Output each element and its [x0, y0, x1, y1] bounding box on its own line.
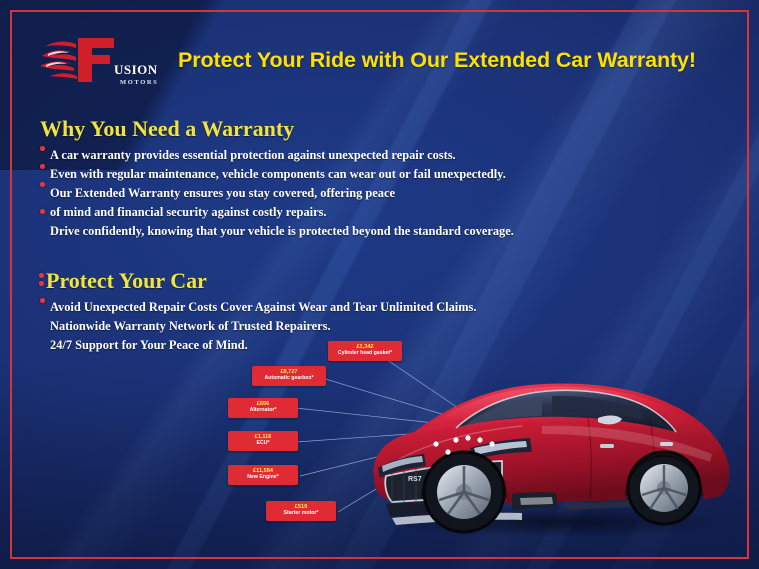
flaming-f-icon: USION MOTORS — [40, 30, 160, 92]
section-heading: Why You Need a Warranty — [40, 116, 660, 142]
callout-ecu[interactable]: £1,116 ECU* — [228, 431, 298, 451]
body-line: of mind and financial security against c… — [40, 203, 660, 222]
body-line: Even with regular maintenance, vehicle c… — [40, 165, 660, 184]
header: USION MOTORS Protect Your Ride with Our … — [28, 28, 733, 100]
callout-part: Cylinder head gasket* — [333, 351, 397, 357]
section-body: A car warranty provides essential protec… — [40, 146, 660, 241]
body-line: Avoid Unexpected Repair Costs Cover Agai… — [40, 298, 660, 317]
body-line: Nationwide Warranty Network of Trusted R… — [40, 317, 660, 336]
callout-new-engine[interactable]: £11,584 New Engine* — [228, 465, 298, 485]
body-line: Drive confidently, knowing that your veh… — [40, 222, 660, 241]
fusion-motors-logo: USION MOTORS — [40, 30, 160, 92]
red-sports-car-image: RS7 FUSION MOTORS quattro — [352, 352, 752, 542]
logo-wordmark: USION — [114, 62, 158, 77]
car-illustration: RS7 FUSION MOTORS quattro — [352, 352, 752, 542]
callout-cylinder-head-gasket[interactable]: £1,342 Cylinder head gasket* — [328, 341, 402, 361]
callout-part: Alternator* — [233, 408, 293, 414]
callout-part: Automatic gearbox* — [257, 376, 321, 382]
rear-wheel — [628, 452, 700, 524]
intake-blade — [520, 497, 553, 505]
section-why-you-need-a-warranty: Why You Need a Warranty A car warranty p… — [40, 116, 660, 241]
callout-part: ECU* — [233, 441, 293, 447]
bullet-dot — [39, 273, 44, 278]
body-line: Our Extended Warranty ensures you stay c… — [40, 184, 660, 203]
body-line: A car warranty provides essential protec… — [40, 146, 660, 165]
callout-part: Starter motor* — [271, 511, 331, 517]
model-badge: RS7 — [408, 476, 422, 483]
callout-part: New Engine* — [233, 475, 293, 481]
bullet-dot — [39, 281, 44, 286]
callout-alternator[interactable]: £656 Alternator* — [228, 398, 298, 418]
logo-subtext: MOTORS — [120, 79, 158, 86]
callout-automatic-gearbox[interactable]: £8,727 Automatic gearbox* — [252, 366, 326, 386]
warranty-promo-slide: USION MOTORS Protect Your Ride with Our … — [0, 0, 759, 569]
page-title: Protect Your Ride with Our Extended Car … — [178, 48, 696, 73]
callout-starter-motor[interactable]: £519 Starter motor* — [266, 501, 336, 521]
section-heading: Protect Your Car — [40, 268, 660, 294]
